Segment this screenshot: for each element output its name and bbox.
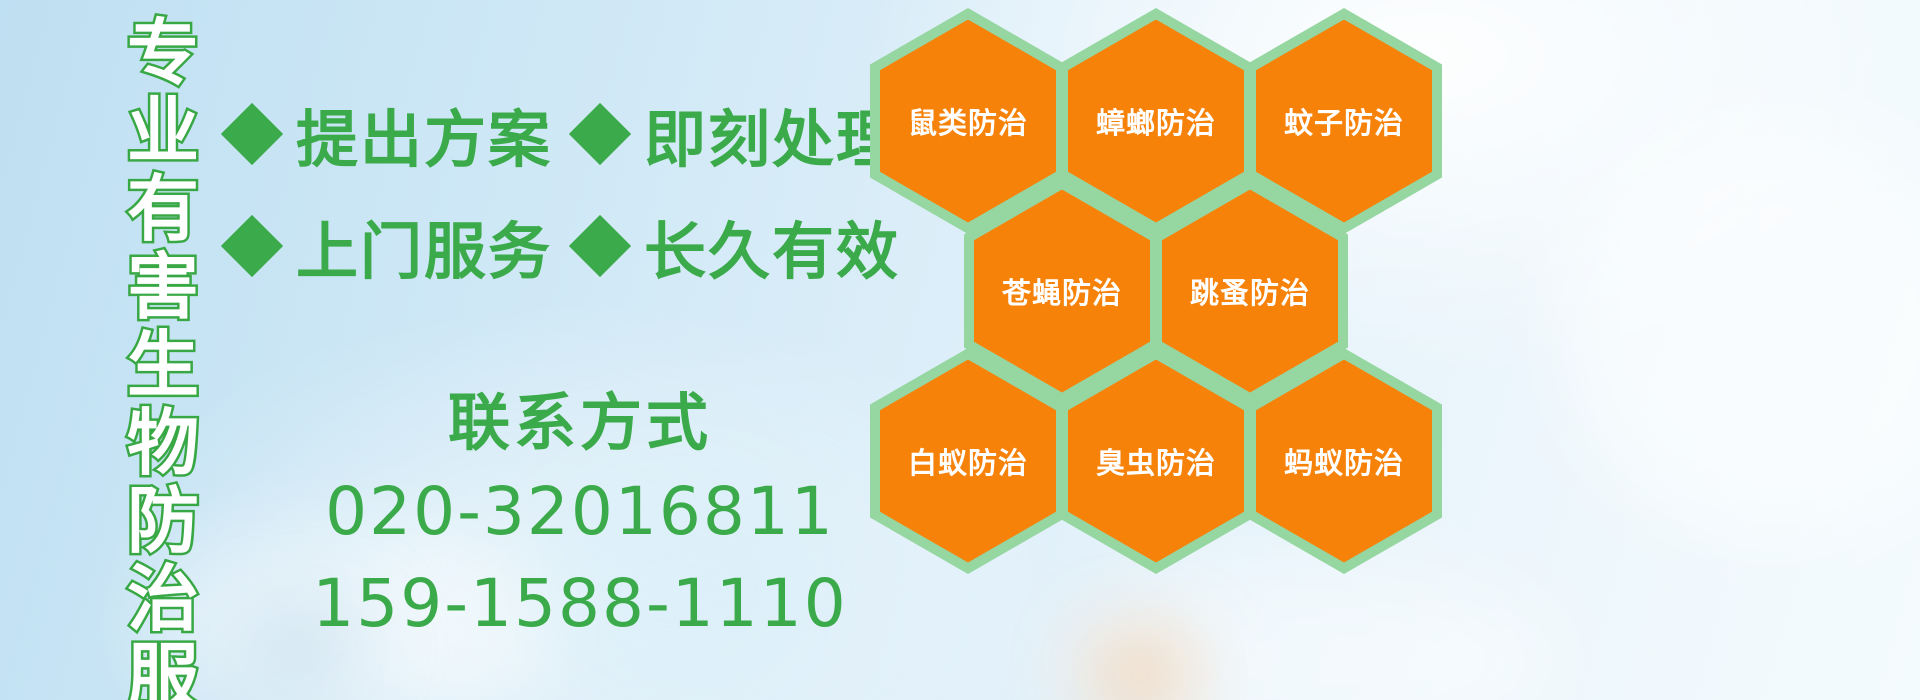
service-hex-label: 蚂蚁防治	[1284, 440, 1404, 482]
service-hex-label: 蟑螂防治	[1096, 100, 1216, 142]
diamond-icon	[569, 103, 631, 165]
vertical-headline: 专 业 有 害 生 物 防 治 服 务	[108, 14, 218, 686]
vertical-headline-char: 业	[127, 92, 199, 170]
vertical-headline-char: 治	[127, 560, 199, 638]
background-blob	[1095, 640, 1185, 700]
pest-control-banner: 专 业 有 害 生 物 防 治 服 务 提出方案 即刻处理 上门服务 长久有效 …	[0, 0, 1920, 700]
service-hex-grid: 鼠类防治 蟑螂防治 蚊子防治 苍蝇防治 跳蚤防治 白蚁防治	[862, 0, 1462, 560]
contact-phone-landline[interactable]: 020-32016811	[280, 466, 880, 558]
vertical-headline-char: 物	[127, 404, 199, 482]
vertical-headline-char: 害	[127, 248, 199, 326]
service-hex-inner: 蟑螂防治	[1068, 20, 1244, 223]
service-hex-label: 跳蚤防治	[1190, 270, 1310, 312]
diamond-icon	[221, 215, 283, 277]
feature-label: 提出方案	[296, 89, 552, 179]
diamond-icon	[569, 215, 631, 277]
vertical-headline-char: 有	[127, 170, 199, 248]
feature-label: 上门服务	[296, 201, 552, 291]
background-blob	[1560, 120, 1920, 540]
service-hex-inner: 臭虫防治	[1068, 360, 1244, 563]
contact-label: 联系方式	[280, 380, 880, 466]
vertical-headline-char: 防	[127, 482, 199, 560]
feature-row: 上门服务 长久有效	[230, 190, 870, 302]
diamond-icon	[221, 103, 283, 165]
service-hex-label: 苍蝇防治	[1002, 270, 1122, 312]
feature-row: 提出方案 即刻处理	[230, 78, 870, 190]
service-hex-label: 蚊子防治	[1284, 100, 1404, 142]
service-hex-inner: 跳蚤防治	[1162, 190, 1338, 393]
service-hex-label: 臭虫防治	[1096, 440, 1216, 482]
contact-phone-mobile[interactable]: 159-1588-1110	[280, 558, 880, 650]
background-blob	[1050, 560, 1570, 700]
service-hex-inner: 鼠类防治	[880, 20, 1056, 223]
service-hex-inner: 蚊子防治	[1256, 20, 1432, 223]
vertical-headline-char: 专	[127, 14, 199, 92]
service-hex-inner: 苍蝇防治	[974, 190, 1150, 393]
feature-list: 提出方案 即刻处理 上门服务 长久有效	[230, 78, 870, 302]
vertical-headline-char: 生	[127, 326, 199, 404]
vertical-headline-char: 服	[127, 638, 199, 700]
service-hex-label: 白蚁防治	[908, 440, 1028, 482]
contact-block: 联系方式 020-32016811 159-1588-1110	[280, 380, 880, 650]
service-hex-inner: 蚂蚁防治	[1256, 360, 1432, 563]
service-hex-inner: 白蚁防治	[880, 360, 1056, 563]
service-hex-label: 鼠类防治	[908, 100, 1028, 142]
